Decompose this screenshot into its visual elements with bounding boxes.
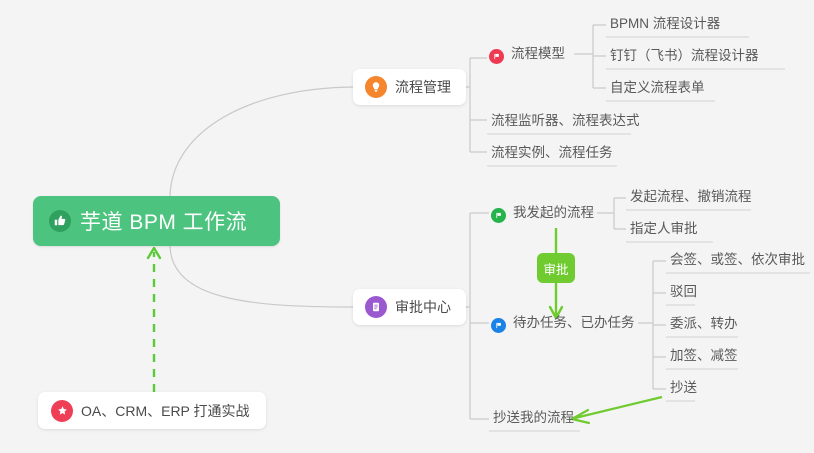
node-dingtalk-designer[interactable]: 钉钉（飞书）流程设计器 — [606, 42, 764, 69]
node-add-remove-sign[interactable]: 加签、减签 — [666, 342, 743, 369]
node-my-initiated[interactable]: 我发起的流程 — [491, 199, 599, 226]
node-reject-label: 驳回 — [666, 282, 702, 305]
star-icon — [51, 400, 73, 422]
flag-red-icon — [489, 49, 504, 64]
node-flow-instance[interactable]: 流程实例、流程任务 — [487, 139, 618, 166]
bottom-node-label: OA、CRM、ERP 打通实战 — [81, 401, 250, 421]
dashed-green-arrow — [148, 248, 160, 392]
node-custom-form-label: 自定义流程表单 — [606, 78, 710, 101]
thumbs-up-icon — [49, 210, 71, 232]
node-cc-to-me-label: 抄送我的流程 — [489, 408, 579, 431]
wire-root-to-approval-center — [170, 246, 353, 307]
root-label: 芋道 BPM 工作流 — [80, 206, 247, 236]
node-my-initiated-label: 我发起的流程 — [513, 203, 599, 226]
node-flow-listener-label: 流程监听器、流程表达式 — [487, 111, 645, 134]
node-dingtalk-designer-label: 钉钉（飞书）流程设计器 — [606, 46, 764, 69]
node-delegate-transfer-label: 委派、转办 — [666, 314, 743, 337]
node-countersign[interactable]: 会签、或签、依次审批 — [666, 246, 810, 273]
branch-node-flow-management[interactable]: 流程管理 — [353, 69, 466, 105]
node-initiate-cancel-label: 发起流程、撤销流程 — [626, 187, 757, 210]
node-bpmn-designer[interactable]: BPMN 流程设计器 — [606, 10, 725, 37]
node-cc-to-me[interactable]: 抄送我的流程 — [489, 404, 579, 431]
branch-label-flow-management: 流程管理 — [395, 77, 451, 97]
approve-pill-label: 审批 — [543, 259, 568, 278]
node-bpmn-designer-label: BPMN 流程设计器 — [606, 14, 725, 37]
branch-label-approval-center: 审批中心 — [395, 297, 451, 317]
node-todo-done-tasks[interactable]: 待办任务、已办任务 — [491, 309, 640, 336]
node-initiate-cancel[interactable]: 发起流程、撤销流程 — [626, 183, 757, 210]
node-flow-model[interactable]: 流程模型 — [489, 40, 570, 67]
node-add-remove-sign-label: 加签、减签 — [666, 346, 743, 369]
flag-blue-icon — [491, 318, 506, 333]
node-carbon-copy-label: 抄送 — [666, 378, 702, 401]
node-assignee-approval[interactable]: 指定人审批 — [626, 215, 703, 242]
branch-node-approval-center[interactable]: 审批中心 — [353, 289, 466, 325]
node-flow-listener[interactable]: 流程监听器、流程表达式 — [487, 107, 645, 134]
bottom-node-integration[interactable]: OA、CRM、ERP 打通实战 — [38, 392, 266, 429]
approve-pill[interactable]: 审批 — [537, 253, 575, 283]
node-countersign-label: 会签、或签、依次审批 — [666, 250, 810, 273]
node-delegate-transfer[interactable]: 委派、转办 — [666, 310, 743, 337]
node-assignee-approval-label: 指定人审批 — [626, 219, 703, 242]
lightbulb-icon — [365, 76, 387, 98]
node-flow-model-label: 流程模型 — [511, 44, 570, 67]
node-custom-form[interactable]: 自定义流程表单 — [606, 74, 710, 101]
node-flow-instance-label: 流程实例、流程任务 — [487, 143, 618, 166]
flag-green-icon — [491, 208, 506, 223]
root-node[interactable]: 芋道 BPM 工作流 — [33, 196, 280, 246]
mindmap-canvas: 芋道 BPM 工作流 流程管理 审批中心 — [0, 0, 814, 453]
cc-flow-arrow — [572, 397, 662, 423]
document-icon — [365, 296, 387, 318]
node-todo-done-tasks-label: 待办任务、已办任务 — [513, 313, 640, 336]
wire-root-to-flow-management — [170, 87, 353, 196]
node-reject[interactable]: 驳回 — [666, 278, 702, 305]
node-carbon-copy[interactable]: 抄送 — [666, 374, 702, 401]
